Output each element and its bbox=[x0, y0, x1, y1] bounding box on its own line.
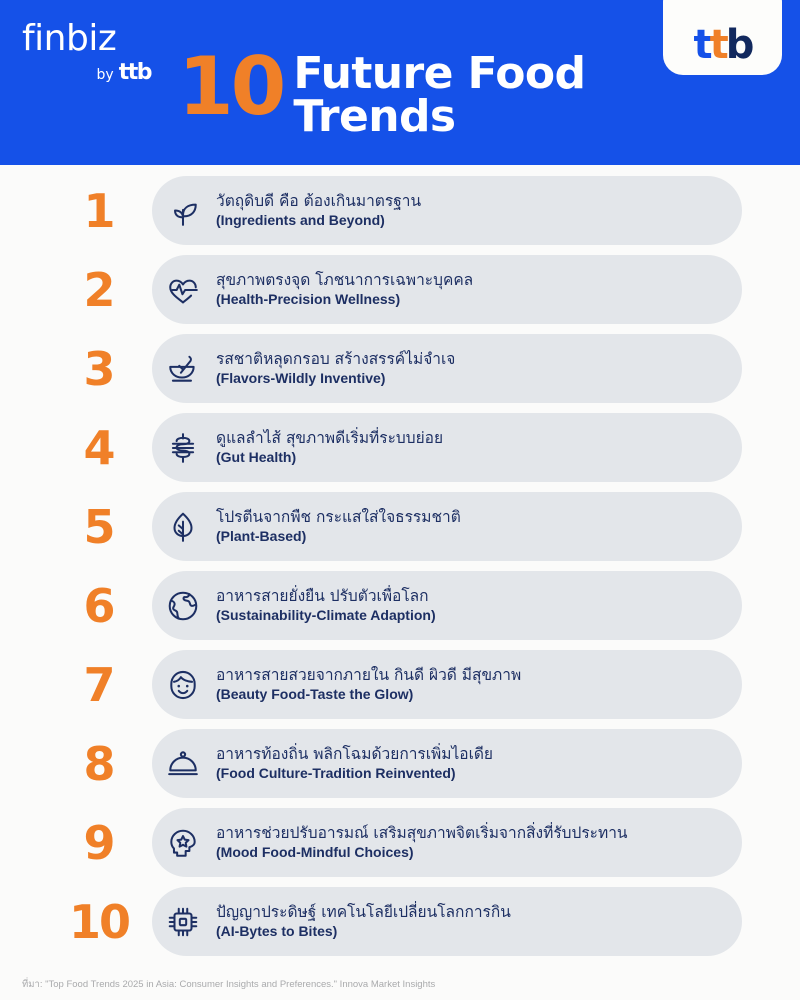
trend-title-english: (Flavors-Wildly Inventive) bbox=[216, 369, 455, 388]
finbiz-logo: finbiz by ttb bbox=[22, 20, 157, 85]
trend-row: 1วัตถุดิบดี คือ ต้องเกินมาตรฐาน(Ingredie… bbox=[0, 176, 800, 245]
trend-text: อาหารสายสวยจากภายใน กินดี ผิวดี มีสุขภาพ… bbox=[214, 665, 521, 704]
trend-text: อาหารท้องถิ่น พลิกโฉมด้วยการเพิ่มไอเดีย(… bbox=[214, 744, 493, 783]
trend-text: โปรตีนจากพืช กระแสใส่ใจธรรมชาติ(Plant-Ba… bbox=[214, 507, 461, 546]
globe-icon bbox=[152, 571, 214, 640]
leaf-sprout-icon bbox=[152, 176, 214, 245]
trend-text: วัตถุดิบดี คือ ต้องเกินมาตรฐาน(Ingredien… bbox=[214, 191, 421, 230]
finbiz-ttb-wordmark: ttb bbox=[119, 60, 151, 85]
cloche-dome-icon bbox=[152, 729, 214, 798]
trend-text: ดูแลลำไส้ สุขภาพดีเริ่มที่ระบบย่อย(Gut H… bbox=[214, 428, 443, 467]
trend-title-thai: อาหารช่วยปรับอารมณ์ เสริมสุขภาพจิตเริ่มจ… bbox=[216, 823, 628, 843]
trend-card[interactable]: อาหารสายยั่งยืน ปรับตัวเพื่อโลก(Sustaina… bbox=[152, 571, 742, 640]
title-line-1: Future Food bbox=[293, 52, 585, 95]
trend-rank-number: 5 bbox=[55, 492, 143, 561]
trend-title-thai: วัตถุดิบดี คือ ต้องเกินมาตรฐาน bbox=[216, 191, 421, 211]
trend-rank-number: 7 bbox=[55, 650, 143, 719]
trend-rank-number: 4 bbox=[55, 413, 143, 482]
title-line-2: Trends bbox=[293, 95, 585, 138]
finbiz-by-label: by bbox=[97, 67, 114, 83]
head-star-icon bbox=[152, 808, 214, 877]
intestine-gut-icon bbox=[152, 413, 214, 482]
trend-row: 7อาหารสายสวยจากภายใน กินดี ผิวดี มีสุขภา… bbox=[0, 650, 800, 719]
header-banner: finbiz by ttb 10 Future Food Trends ttb bbox=[0, 0, 800, 165]
trend-rank-number: 3 bbox=[55, 334, 143, 403]
trend-title-english: (Mood Food-Mindful Choices) bbox=[216, 843, 628, 862]
trend-row: 8อาหารท้องถิ่น พลิกโฉมด้วยการเพิ่มไอเดีย… bbox=[0, 729, 800, 798]
trend-rank-number: 9 bbox=[55, 808, 143, 877]
trend-title-thai: อาหารสายยั่งยืน ปรับตัวเพื่อโลก bbox=[216, 586, 436, 606]
smiling-face-icon bbox=[152, 650, 214, 719]
trend-card[interactable]: รสชาติหลุดกรอบ สร้างสรรค์ไม่จำเจ(Flavors… bbox=[152, 334, 742, 403]
trend-card[interactable]: โปรตีนจากพืช กระแสใส่ใจธรรมชาติ(Plant-Ba… bbox=[152, 492, 742, 561]
trend-row: 5โปรตีนจากพืช กระแสใส่ใจธรรมชาติ(Plant-B… bbox=[0, 492, 800, 561]
trend-title-english: (Gut Health) bbox=[216, 448, 443, 467]
trend-title-thai: สุขภาพตรงจุด โภชนาการเฉพาะบุคคล bbox=[216, 270, 473, 290]
ttb-logo-letter-t1: t bbox=[694, 22, 710, 68]
ttb-logo: ttb bbox=[663, 0, 782, 75]
trend-text: ปัญญาประดิษฐ์ เทคโนโลยีเปลี่ยนโลกการกิน(… bbox=[214, 902, 511, 941]
trend-title-thai: อาหารท้องถิ่น พลิกโฉมด้วยการเพิ่มไอเดีย bbox=[216, 744, 493, 764]
trend-title-english: (Health-Precision Wellness) bbox=[216, 290, 473, 309]
mortar-pestle-icon bbox=[152, 334, 214, 403]
trend-card[interactable]: สุขภาพตรงจุด โภชนาการเฉพาะบุคคล(Health-P… bbox=[152, 255, 742, 324]
trend-text: รสชาติหลุดกรอบ สร้างสรรค์ไม่จำเจ(Flavors… bbox=[214, 349, 455, 388]
trend-row: 3รสชาติหลุดกรอบ สร้างสรรค์ไม่จำเจ(Flavor… bbox=[0, 334, 800, 403]
trend-card[interactable]: วัตถุดิบดี คือ ต้องเกินมาตรฐาน(Ingredien… bbox=[152, 176, 742, 245]
trend-list: 1วัตถุดิบดี คือ ต้องเกินมาตรฐาน(Ingredie… bbox=[0, 176, 800, 966]
trend-rank-number: 2 bbox=[55, 255, 143, 324]
trend-title-thai: ดูแลลำไส้ สุขภาพดีเริ่มที่ระบบย่อย bbox=[216, 428, 443, 448]
finbiz-byline: by ttb bbox=[22, 60, 157, 85]
trend-title-english: (Beauty Food-Taste the Glow) bbox=[216, 685, 521, 704]
trend-card[interactable]: อาหารช่วยปรับอารมณ์ เสริมสุขภาพจิตเริ่มจ… bbox=[152, 808, 742, 877]
ttb-logo-letter-b: b bbox=[726, 22, 752, 68]
trend-title-english: (Food Culture-Tradition Reinvented) bbox=[216, 764, 493, 783]
trend-card[interactable]: ปัญญาประดิษฐ์ เทคโนโลยีเปลี่ยนโลกการกิน(… bbox=[152, 887, 742, 956]
trend-text: อาหารสายยั่งยืน ปรับตัวเพื่อโลก(Sustaina… bbox=[214, 586, 436, 625]
page-title: 10 Future Food Trends bbox=[178, 50, 585, 138]
title-big-number: 10 bbox=[178, 50, 283, 124]
heart-pulse-icon bbox=[152, 255, 214, 324]
trend-rank-number: 8 bbox=[55, 729, 143, 798]
leaf-icon bbox=[152, 492, 214, 561]
trend-text: อาหารช่วยปรับอารมณ์ เสริมสุขภาพจิตเริ่มจ… bbox=[214, 823, 628, 862]
ttb-logo-wordmark: ttb bbox=[694, 25, 752, 65]
trend-title-thai: อาหารสายสวยจากภายใน กินดี ผิวดี มีสุขภาพ bbox=[216, 665, 521, 685]
trend-text: สุขภาพตรงจุด โภชนาการเฉพาะบุคคล(Health-P… bbox=[214, 270, 473, 309]
trend-card[interactable]: ดูแลลำไส้ สุขภาพดีเริ่มที่ระบบย่อย(Gut H… bbox=[152, 413, 742, 482]
trend-title-thai: โปรตีนจากพืช กระแสใส่ใจธรรมชาติ bbox=[216, 507, 461, 527]
trend-rank-number: 10 bbox=[55, 887, 143, 956]
trend-card[interactable]: อาหารสายสวยจากภายใน กินดี ผิวดี มีสุขภาพ… bbox=[152, 650, 742, 719]
source-footnote: ที่มา: "Top Food Trends 2025 in Asia: Co… bbox=[22, 978, 782, 991]
trend-rank-number: 6 bbox=[55, 571, 143, 640]
trend-row: 10ปัญญาประดิษฐ์ เทคโนโลยีเปลี่ยนโลกการกิ… bbox=[0, 887, 800, 956]
trend-title-thai: ปัญญาประดิษฐ์ เทคโนโลยีเปลี่ยนโลกการกิน bbox=[216, 902, 511, 922]
ttb-logo-letter-t2: t bbox=[710, 22, 726, 68]
title-words: Future Food Trends bbox=[293, 50, 585, 138]
trend-row: 2สุขภาพตรงจุด โภชนาการเฉพาะบุคคล(Health-… bbox=[0, 255, 800, 324]
trend-title-english: (Ingredients and Beyond) bbox=[216, 211, 421, 230]
trend-title-english: (Plant-Based) bbox=[216, 527, 461, 546]
finbiz-wordmark: finbiz bbox=[22, 20, 157, 58]
trend-title-english: (AI-Bytes to Bites) bbox=[216, 922, 511, 941]
trend-card[interactable]: อาหารท้องถิ่น พลิกโฉมด้วยการเพิ่มไอเดีย(… bbox=[152, 729, 742, 798]
trend-row: 9อาหารช่วยปรับอารมณ์ เสริมสุขภาพจิตเริ่ม… bbox=[0, 808, 800, 877]
trend-rank-number: 1 bbox=[55, 176, 143, 245]
trend-row: 4ดูแลลำไส้ สุขภาพดีเริ่มที่ระบบย่อย(Gut … bbox=[0, 413, 800, 482]
trend-title-thai: รสชาติหลุดกรอบ สร้างสรรค์ไม่จำเจ bbox=[216, 349, 455, 369]
trend-title-english: (Sustainability-Climate Adaption) bbox=[216, 606, 436, 625]
trend-row: 6อาหารสายยั่งยืน ปรับตัวเพื่อโลก(Sustain… bbox=[0, 571, 800, 640]
microchip-icon bbox=[152, 887, 214, 956]
